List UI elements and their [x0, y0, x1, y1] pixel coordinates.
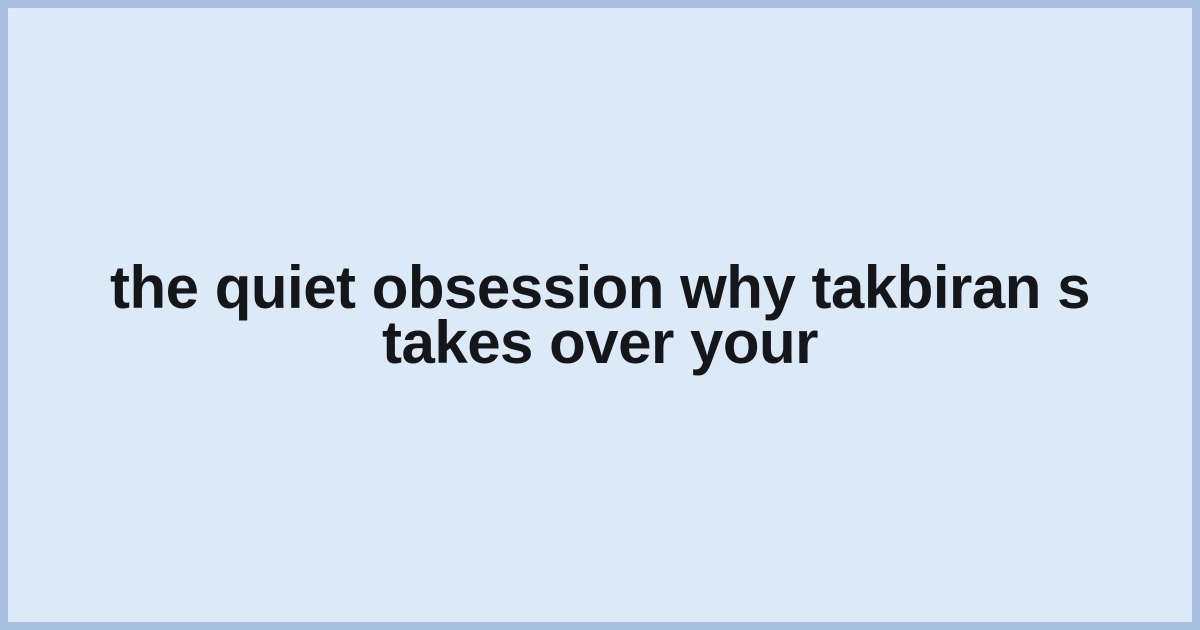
- page-title: the quiet obsession why takbiran s takes…: [56, 260, 1144, 370]
- corner-watermark-artifact: [8, 8, 22, 20]
- social-share-card: the quiet obsession why takbiran s takes…: [0, 0, 1200, 630]
- headline-block: the quiet obsession why takbiran s takes…: [8, 260, 1192, 370]
